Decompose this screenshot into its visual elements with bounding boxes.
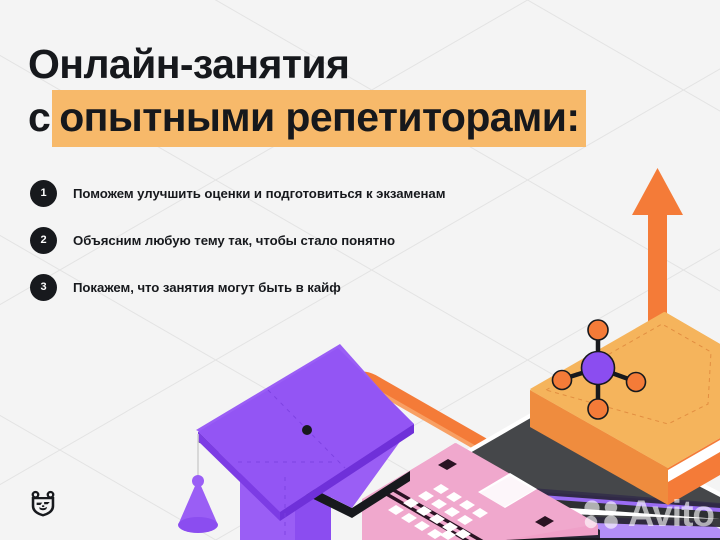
book-purple-sliver — [352, 440, 400, 468]
list-item: 2 Объясним любую тему так, чтобы стало п… — [30, 225, 630, 255]
curved-pipe-highlight — [350, 382, 556, 494]
headline-prefix: с — [28, 93, 52, 141]
benefit-number-badge: 1 — [30, 180, 57, 207]
benefit-label: Объясним любую тему так, чтобы стало пон… — [73, 233, 395, 248]
book-purple-bottom — [497, 461, 720, 540]
book-purple-middle — [449, 412, 720, 519]
headline-highlight: опытными репетиторами: — [52, 90, 586, 146]
benefit-number-badge: 2 — [30, 227, 57, 254]
benefits-list: 1 Поможем улучшить оценки и подготовитьс… — [30, 178, 630, 319]
graduation-cap — [196, 344, 414, 540]
keyboard-device — [362, 443, 600, 540]
promo-banner: Онлайн-занятия сопытными репетиторами: 1… — [0, 0, 720, 540]
benefit-label: Покажем, что занятия могут быть в кайф — [73, 280, 341, 295]
book-pages-white-2 — [430, 403, 720, 508]
list-item: 3 Покажем, что занятия могут быть в кайф — [30, 272, 630, 302]
molecule-icon — [553, 320, 646, 419]
headline-line-1: Онлайн-занятия — [28, 40, 688, 88]
content-layer: Онлайн-занятия сопытными репетиторами: 1… — [0, 0, 720, 540]
up-arrow-icon — [632, 168, 683, 540]
curved-pipe-shape — [355, 378, 560, 488]
headline-line-2: сопытными репетиторами: — [28, 90, 688, 146]
book-pages-white — [468, 432, 720, 527]
book-orange-top — [530, 312, 720, 505]
cap-tassel — [178, 434, 218, 533]
benefit-number-badge: 3 — [30, 274, 57, 301]
avito-watermark-text: Avito — [628, 495, 714, 532]
list-item: 1 Поможем улучшить оценки и подготовитьс… — [30, 178, 630, 208]
avito-watermark: Avito — [581, 495, 714, 532]
benefit-label: Поможем улучшить оценки и подготовиться … — [73, 186, 445, 201]
page-title: Онлайн-занятия сопытными репетиторами: — [28, 40, 688, 147]
avito-logo-mark — [581, 499, 623, 529]
bear-head-logo — [28, 488, 58, 518]
